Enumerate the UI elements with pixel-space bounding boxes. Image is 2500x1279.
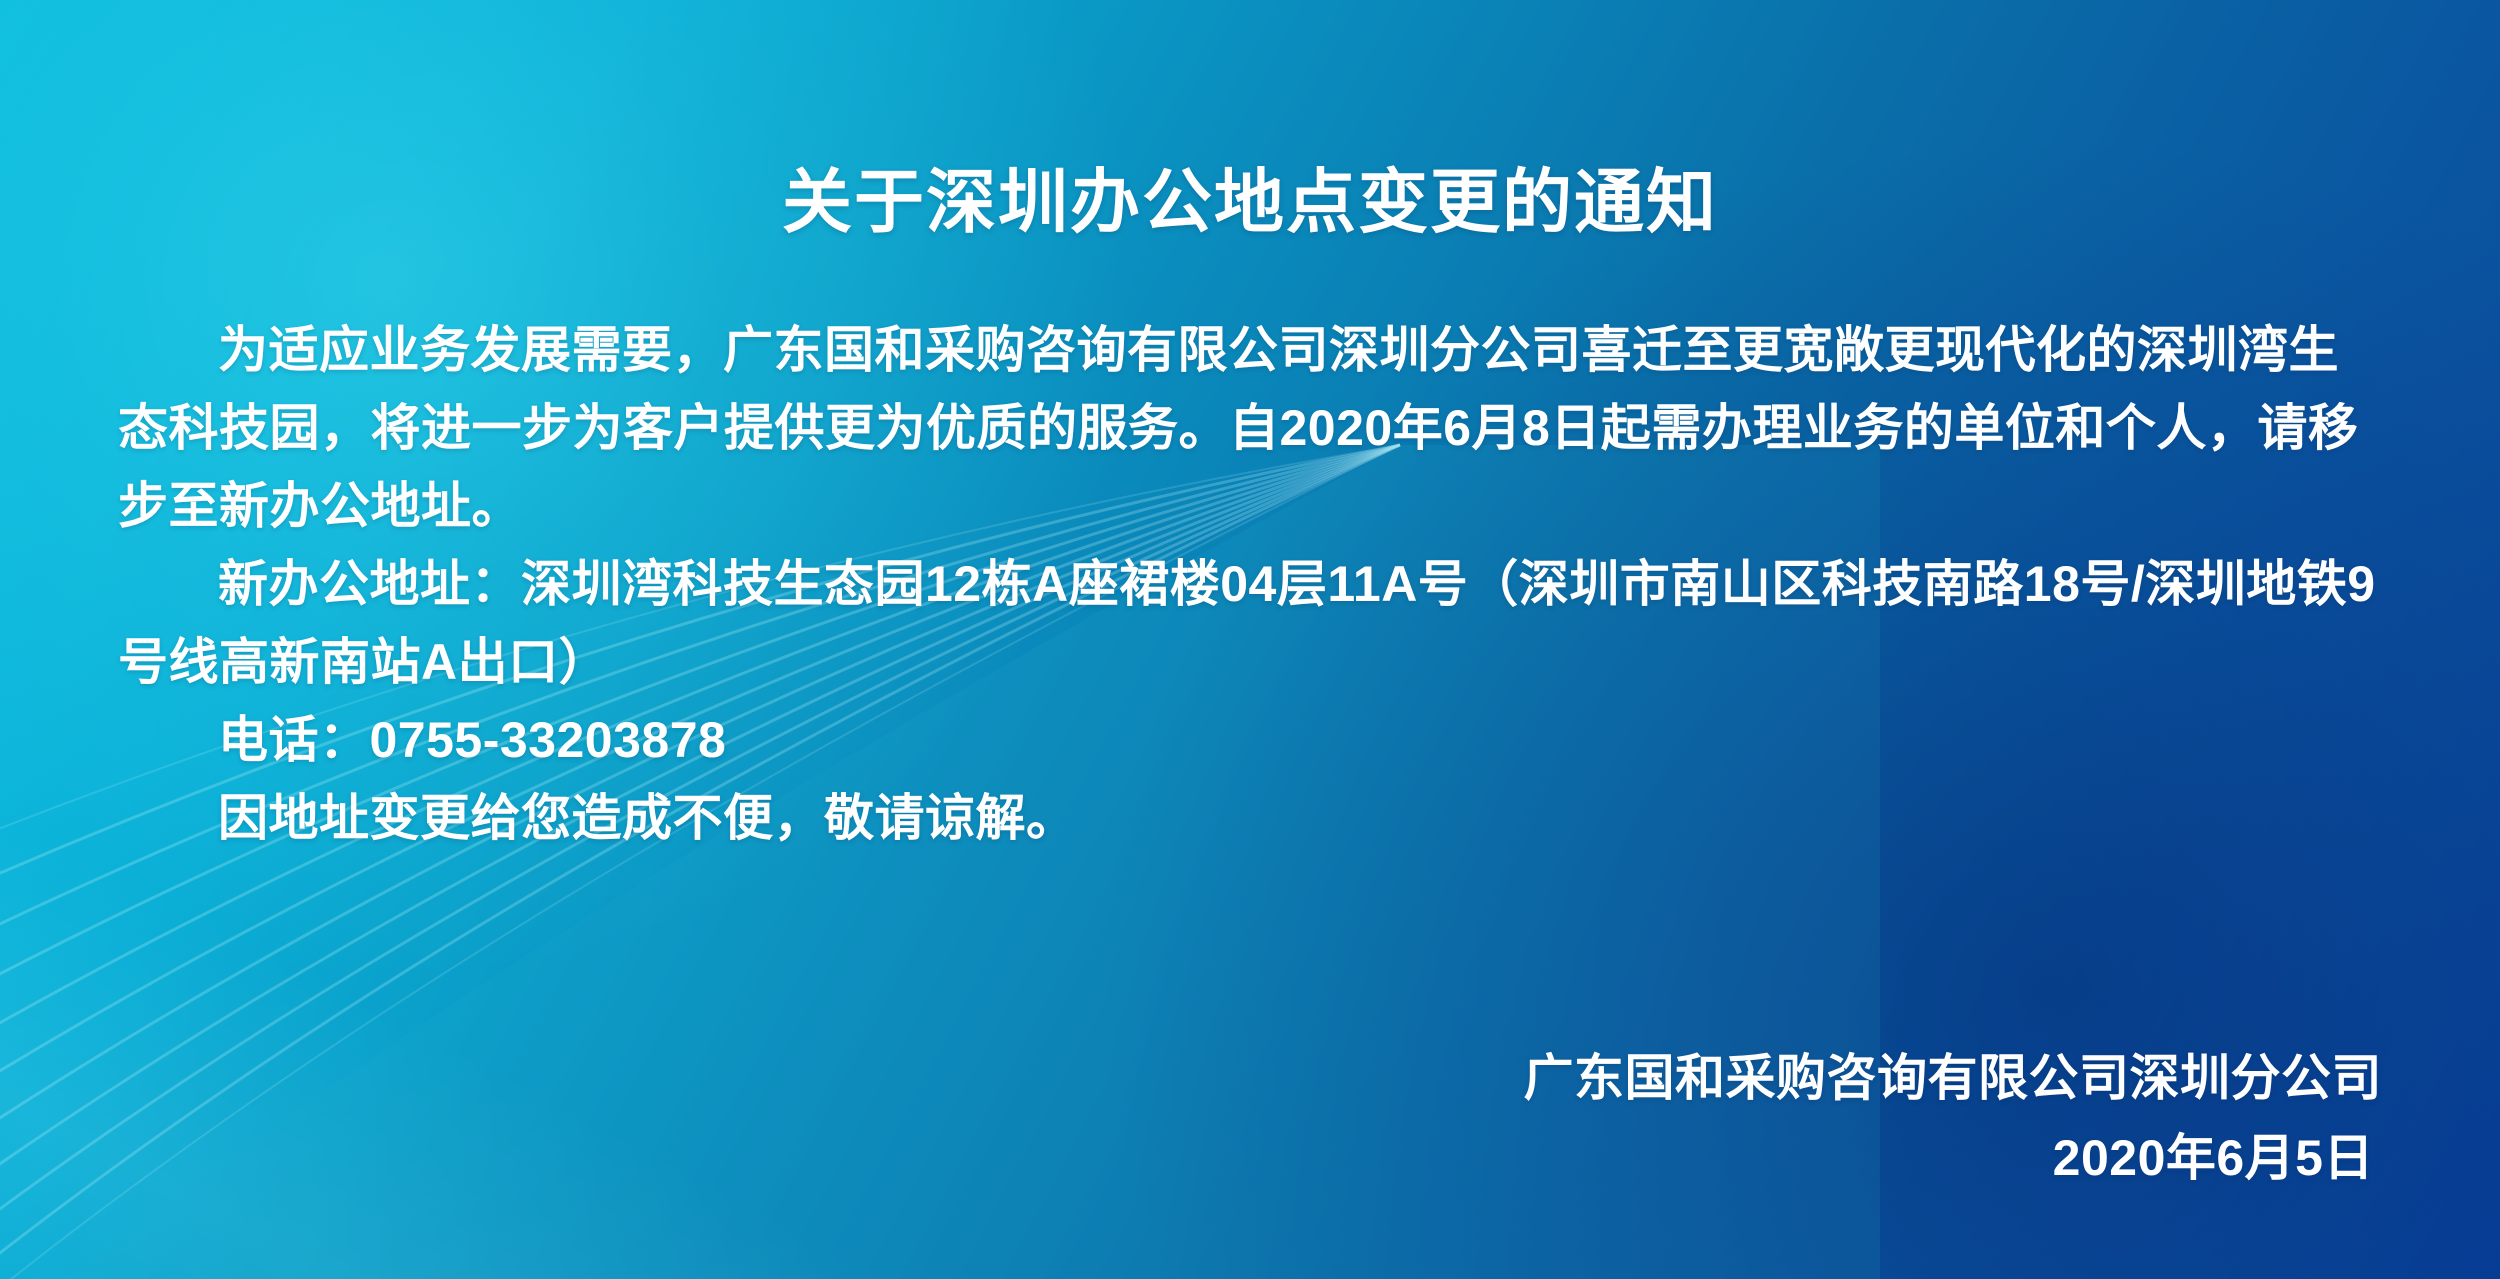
notice-body: 为适应业务发展需要，广东国和采购咨询有限公司深圳分公司喜迁至更宽敞更现代化的深圳…	[118, 311, 2382, 857]
notice-banner: 关于深圳办公地点变更的通知 为适应业务发展需要，广东国和采购咨询有限公司深圳分公…	[0, 0, 2500, 1279]
paragraph-apology: 因地址变更给您造成不便，敬请谅解。	[118, 779, 2382, 857]
notice-content: 关于深圳办公地点变更的通知 为适应业务发展需要，广东国和采购咨询有限公司深圳分公…	[0, 47, 2500, 1279]
paragraph-new-address: 新办公地址：深圳湾科技生态园12栋A座裙楼04层11A号（深圳市南山区科技南路1…	[118, 545, 2382, 701]
signature-block: 广东国和采购咨询有限公司深圳分公司 2020年6月5日	[1524, 1038, 2383, 1198]
page-title: 关于深圳办公地点变更的通知	[118, 47, 2382, 237]
paragraph-intro: 为适应业务发展需要，广东国和采购咨询有限公司深圳分公司喜迁至更宽敞更现代化的深圳…	[118, 311, 2382, 545]
signature-date: 2020年6月5日	[1524, 1118, 2383, 1198]
paragraph-phone: 电话：0755-33203878	[118, 701, 2382, 779]
signature-organization: 广东国和采购咨询有限公司深圳分公司	[1524, 1038, 2383, 1118]
